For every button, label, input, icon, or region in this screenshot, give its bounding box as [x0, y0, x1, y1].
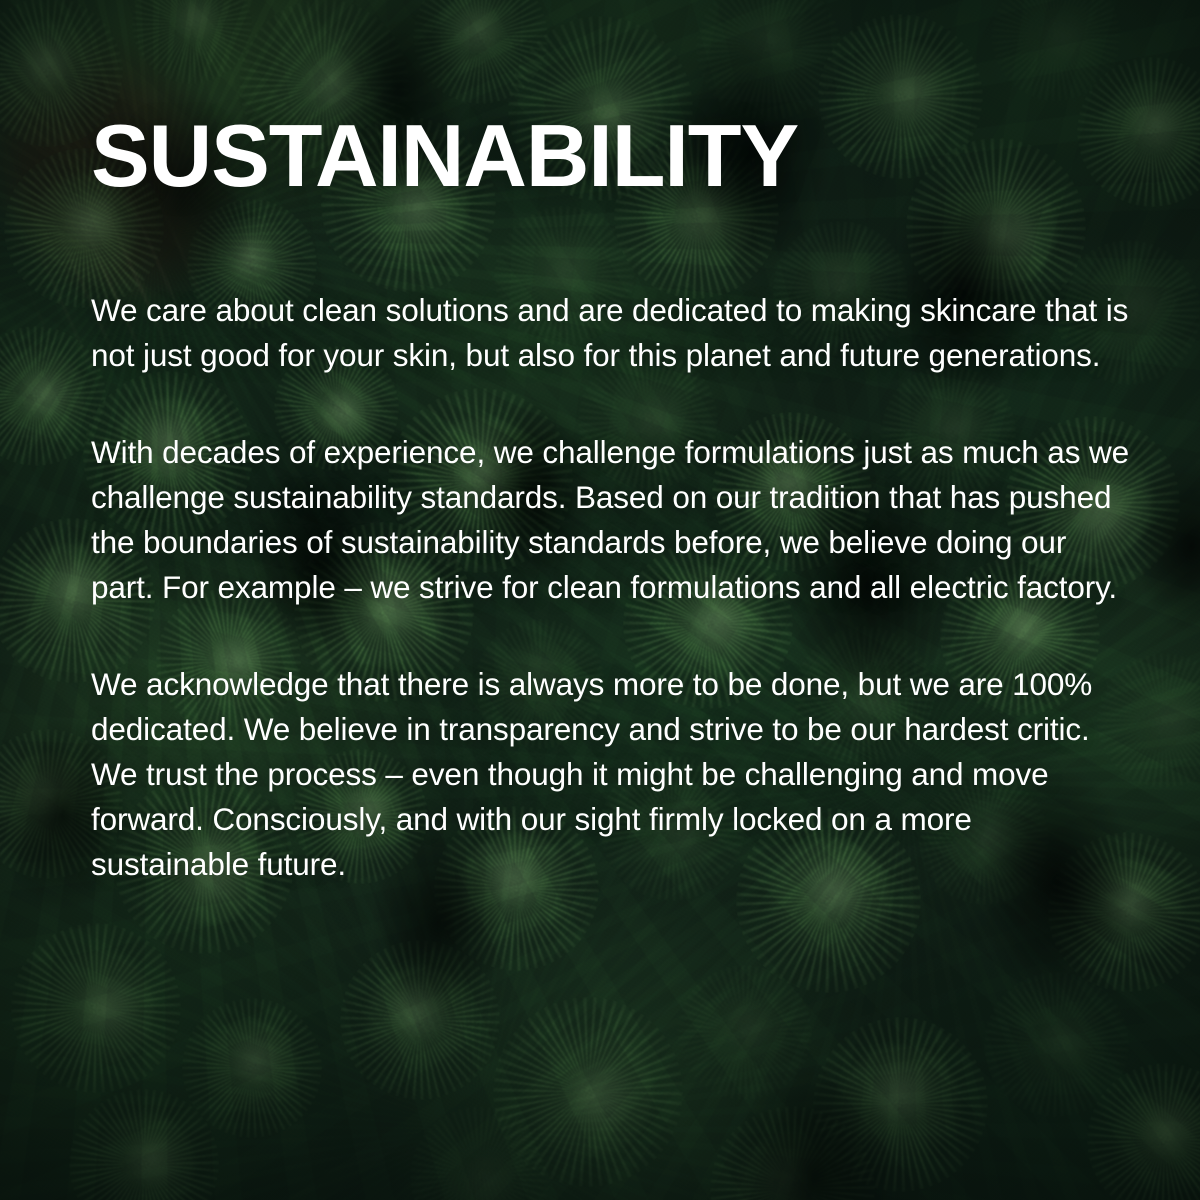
- page-title: SUSTAINABILITY: [91, 112, 798, 200]
- sustainability-slide: SUSTAINABILITY We care about clean solut…: [0, 0, 1200, 1200]
- text-content: SUSTAINABILITY We care about clean solut…: [91, 0, 1136, 1200]
- paragraph-1: We care about clean solutions and are de…: [91, 288, 1136, 378]
- body-copy: We care about clean solutions and are de…: [91, 288, 1136, 887]
- paragraph-3: We acknowledge that there is always more…: [91, 662, 1136, 887]
- paragraph-2: With decades of experience, we challenge…: [91, 430, 1136, 610]
